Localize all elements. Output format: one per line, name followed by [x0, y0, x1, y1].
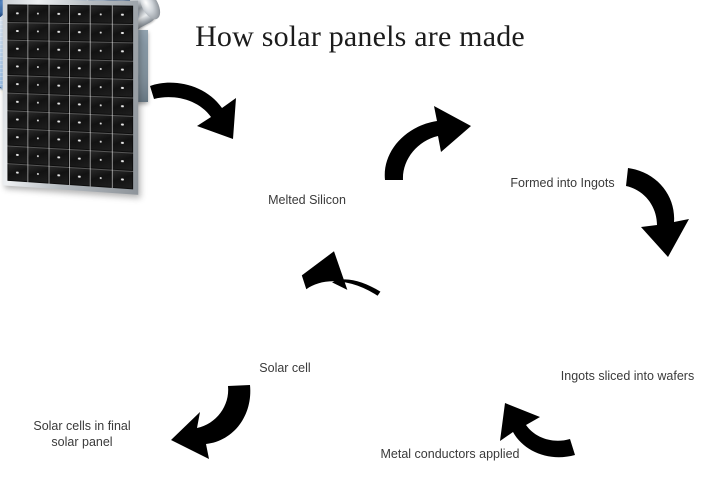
infographic-canvas: How solar panels are made Silica Sand Me… [0, 0, 720, 478]
panel-cell-contact [121, 141, 124, 144]
panel-cell-contact [16, 118, 18, 121]
panel-cell-contact [16, 154, 18, 157]
panel-cell-contact [121, 32, 124, 35]
panel-cell-contact [16, 83, 18, 86]
panel-cell-contact [121, 68, 124, 71]
panel-cell-contact [57, 48, 60, 51]
panel-cell-contact [16, 100, 18, 103]
panel-cell-contact [121, 105, 124, 108]
panel-cell-contact [121, 160, 124, 163]
panel-cell-contact [57, 30, 60, 33]
panel-glass [7, 4, 133, 189]
formed-into-ingots-label: Formed into Ingots [470, 175, 655, 191]
panel-cell-contact [121, 50, 124, 53]
panel-cell-contact [121, 178, 124, 181]
panel-cell-contact [121, 123, 124, 126]
final-panel-label: Solar cells in final solar panel [0, 418, 172, 450]
panel-cell-contact [78, 103, 81, 106]
panel-cell-contact [78, 121, 81, 124]
final-panel-image [0, 0, 138, 190]
step-final-panel: Solar cells in final solar panel [0, 0, 138, 190]
panel-cell-contact [121, 13, 124, 16]
arrow-silicon-to-ingots [385, 106, 471, 180]
panel-cell-contact [78, 157, 81, 160]
panel-cell-contact [121, 87, 124, 90]
panel-frame [3, 0, 139, 195]
panel-cell-contact [16, 171, 18, 174]
melted-silicon-label: Melted Silicon [227, 192, 387, 208]
panel-cell-contact [57, 13, 60, 16]
arrow-metal-to-cell [301, 250, 381, 299]
metal-conductors-label: Metal conductors applied [355, 446, 545, 462]
panel-cell-contact [78, 139, 81, 142]
solar-cell-label: Solar cell [215, 360, 355, 376]
ingots-sliced-label: Ingots sliced into wafers [535, 368, 720, 384]
arrow-sand-to-silicon [150, 83, 236, 139]
arrow-cell-to-panel [171, 385, 250, 459]
panel-cell-contact [78, 175, 81, 178]
panel-cell-contact [16, 136, 18, 139]
